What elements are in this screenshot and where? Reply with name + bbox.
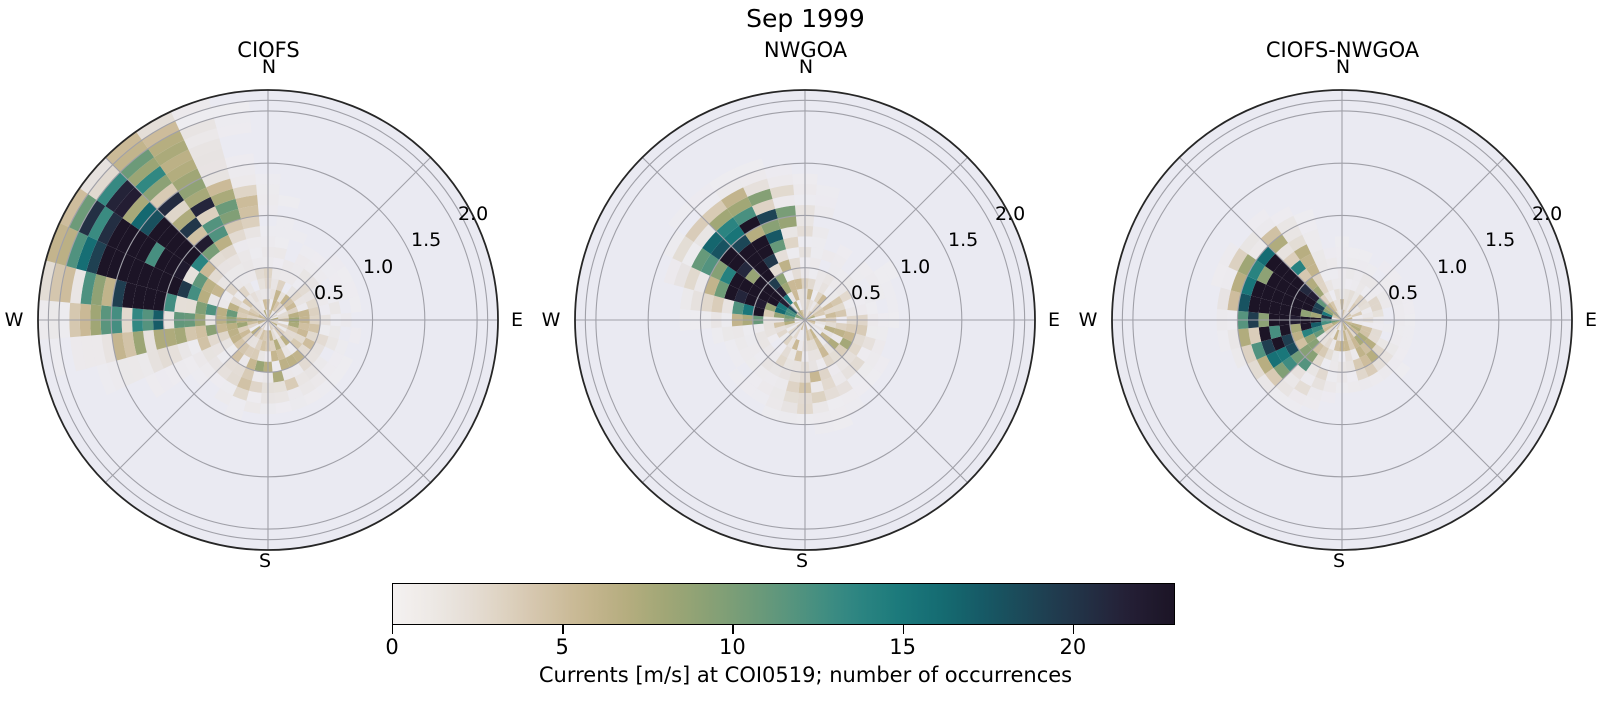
dir-label-n-2: N [1319, 56, 1367, 78]
r-label-0.5-2: 0.5 [1388, 282, 1418, 304]
colorbar-tick-label: 20 [1059, 635, 1086, 659]
r-label-0.5-1: 0.5 [851, 282, 881, 304]
r-label-2.0-0: 2.0 [458, 203, 488, 225]
polar-panel-ciofs-nwgoa: CIOFS-NWGOA N S W E 0.5 1.0 1.5 2.0 [1074, 60, 1611, 590]
r-label-1.5-1: 1.5 [948, 229, 978, 251]
colorbar-tick-labels: 05101520 [0, 635, 1611, 661]
colorbar-ticks [392, 625, 1175, 635]
colorbar-tick [732, 625, 733, 634]
polar-rose-nwgoa [537, 60, 1074, 590]
dir-label-e-1: E [1042, 309, 1066, 331]
r-label-1.0-2: 1.0 [1437, 256, 1467, 278]
dir-label-e-0: E [505, 309, 529, 331]
colorbar-tick-label: 0 [385, 635, 398, 659]
dir-label-s-2: S [1315, 550, 1363, 572]
dir-label-e-2: E [1579, 309, 1603, 331]
r-label-2.0-2: 2.0 [1532, 203, 1562, 225]
colorbar-gradient [393, 584, 1174, 624]
r-label-1.5-2: 1.5 [1485, 229, 1515, 251]
r-label-2.0-1: 2.0 [995, 203, 1025, 225]
figure-root: Sep 1999 CIOFS N S W E 0.5 1.0 1.5 2.0 N… [0, 0, 1611, 724]
polar-axes-ciofs-nwgoa [1074, 60, 1611, 590]
dir-label-w-1: W [539, 309, 563, 331]
polar-axes-ciofs [0, 60, 537, 590]
dir-label-n-1: N [782, 56, 830, 78]
colorbar-tick [562, 625, 563, 634]
colorbar[interactable] [392, 583, 1175, 625]
r-label-1.0-0: 1.0 [363, 256, 393, 278]
polar-rose-ciofs-nwgoa [1074, 60, 1611, 590]
r-label-1.0-1: 1.0 [900, 256, 930, 278]
polar-axes-nwgoa [537, 60, 1074, 590]
r-label-1.5-0: 1.5 [411, 229, 441, 251]
colorbar-tick-label: 10 [719, 635, 746, 659]
colorbar-tick [392, 625, 393, 634]
polar-panel-ciofs: CIOFS N S W E 0.5 1.0 1.5 2.0 [0, 60, 537, 590]
polar-rose-ciofs [0, 60, 537, 590]
colorbar-tick [903, 625, 904, 634]
colorbar-caption: Currents [m/s] at COI0519; number of occ… [0, 663, 1611, 687]
colorbar-block: 05101520 Currents [m/s] at COI0519; numb… [0, 583, 1611, 724]
dir-label-w-2: W [1076, 309, 1100, 331]
dir-label-w-0: W [2, 309, 26, 331]
dir-label-n-0: N [245, 56, 293, 78]
r-label-0.5-0: 0.5 [314, 282, 344, 304]
dir-label-s-1: S [778, 550, 826, 572]
dir-label-s-0: S [241, 550, 289, 572]
colorbar-tick [1073, 625, 1074, 634]
figure-suptitle: Sep 1999 [0, 4, 1611, 33]
colorbar-tick-label: 15 [889, 635, 916, 659]
colorbar-tick-label: 5 [556, 635, 569, 659]
polar-panel-nwgoa: NWGOA N S W E 0.5 1.0 1.5 2.0 [537, 60, 1074, 590]
